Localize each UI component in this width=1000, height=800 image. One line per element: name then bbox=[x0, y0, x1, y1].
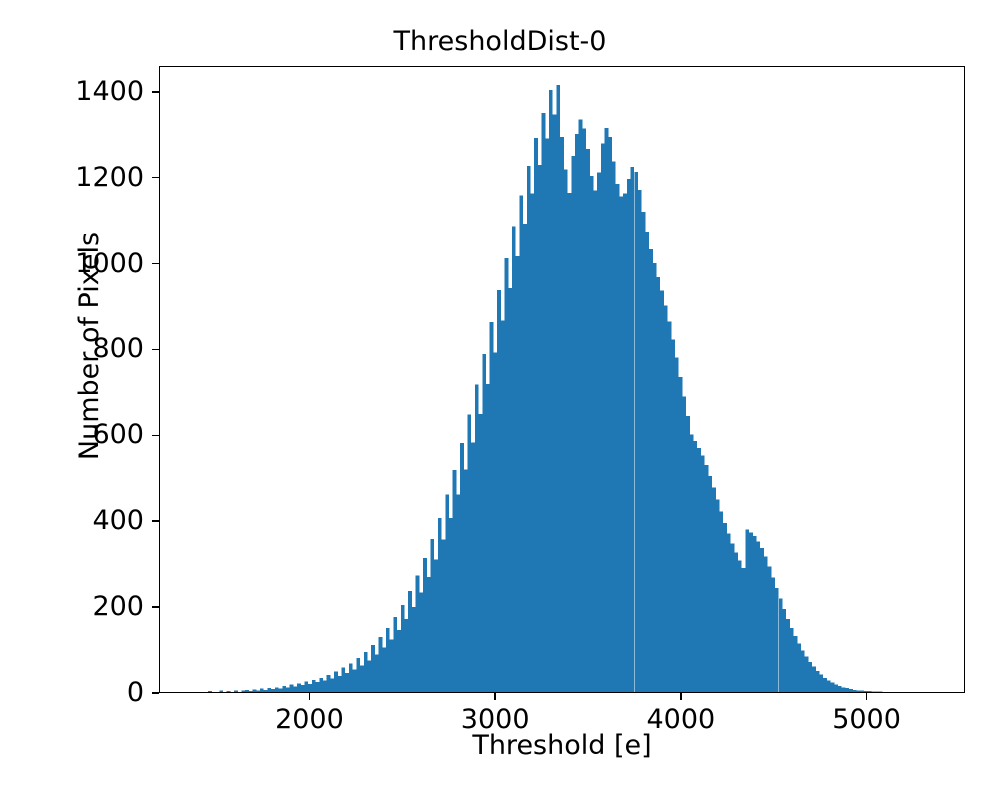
y-tick-mark bbox=[152, 435, 159, 437]
y-tick-mark bbox=[152, 349, 159, 351]
histogram-bar-path bbox=[208, 85, 882, 692]
y-tick-mark bbox=[152, 263, 159, 265]
y-tick-label: 200 bbox=[0, 592, 144, 622]
x-axis-label: Threshold [e] bbox=[159, 730, 965, 762]
y-tick-mark bbox=[152, 177, 159, 179]
y-tick-label: 1400 bbox=[0, 77, 144, 107]
y-tick-mark bbox=[152, 520, 159, 522]
x-tick-mark bbox=[494, 693, 496, 700]
plot-area bbox=[159, 66, 965, 693]
y-axis-label: Number of Pixels bbox=[74, 146, 106, 546]
bars-group bbox=[208, 85, 882, 692]
y-tick-mark bbox=[152, 606, 159, 608]
y-tick-label: 1000 bbox=[0, 249, 144, 279]
y-tick-label: 0 bbox=[0, 678, 144, 708]
x-tick-mark bbox=[680, 693, 682, 700]
histogram-bars bbox=[160, 67, 964, 692]
y-tick-label: 1200 bbox=[0, 163, 144, 193]
y-tick-label: 800 bbox=[0, 334, 144, 364]
y-tick-label: 600 bbox=[0, 420, 144, 450]
y-tick-label: 400 bbox=[0, 506, 144, 536]
y-tick-mark bbox=[152, 91, 159, 93]
chart-title: ThresholdDist-0 bbox=[0, 26, 1000, 58]
y-tick-mark bbox=[152, 692, 159, 694]
chart-figure: ThresholdDist-0 020040060080010001200140… bbox=[0, 0, 1000, 800]
x-tick-mark bbox=[309, 693, 311, 700]
x-tick-mark bbox=[866, 693, 868, 700]
